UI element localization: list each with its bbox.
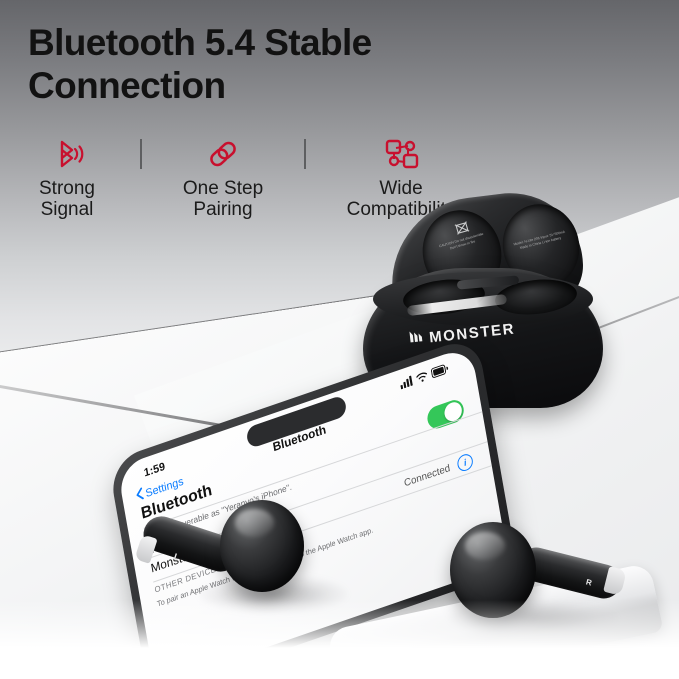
status-time: 1:59 [143, 461, 166, 480]
wifi-icon [415, 367, 430, 389]
earbud-contact-tip [134, 534, 157, 564]
signal-bars-icon [399, 372, 414, 394]
feature-label: One Step Pairing [183, 178, 263, 221]
earbud-left: L [128, 496, 343, 616]
feature-divider-2 [304, 139, 306, 169]
battery-icon [430, 360, 450, 384]
feature-divider-1 [140, 139, 142, 169]
monster-claw-icon [408, 328, 425, 349]
page-title: Bluetooth 5.4 Stable Connection [28, 22, 498, 108]
feature-one-step-pairing: One Step Pairing [158, 134, 288, 221]
bluetooth-toggle[interactable] [426, 397, 466, 431]
feature-strong-signal: Strong Signal [10, 134, 124, 221]
bluetooth-icon [50, 134, 84, 174]
feature-label: Strong Signal [39, 178, 95, 221]
link-icon [206, 134, 240, 174]
product-marketing-image: Bluetooth 5.4 Stable Connection Strong S… [0, 0, 679, 679]
floor-fade [0, 600, 679, 679]
earbud-mark: L [173, 551, 181, 562]
earbud-head [220, 500, 304, 592]
info-icon[interactable]: i [456, 452, 474, 473]
network-nodes-icon [383, 134, 419, 174]
